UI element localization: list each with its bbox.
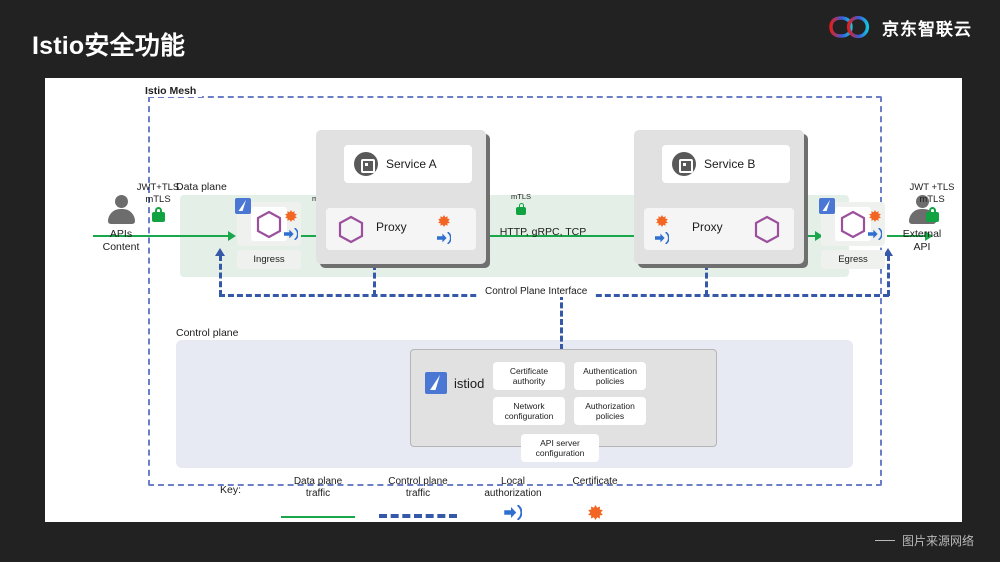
istiod-name: istiod <box>454 376 484 391</box>
page-title: Istio安全功能 <box>32 26 185 62</box>
cp-cert-line2: authority <box>513 376 546 386</box>
control-plane-interface-label: Control Plane Interface <box>479 286 593 297</box>
protocols-label: HTTP, gRPC, TCP <box>463 226 623 238</box>
diagram-canvas: Istio Mesh Data plane Control plane Cont… <box>45 78 962 522</box>
legend-item-data-plane-traffic: Data plane traffic <box>270 476 366 519</box>
gateway-ingress-label: Ingress <box>237 250 301 269</box>
gateway-egress[interactable]: Egress <box>821 202 885 269</box>
istiod-card-certificate-authority[interactable]: Certificateauthority <box>493 362 565 390</box>
cp-branch-ingress-arrow <box>215 248 225 256</box>
cp-auth-line1: Authentication <box>583 366 637 376</box>
gateway-egress-body <box>821 202 885 246</box>
legend-cert-swatch <box>556 505 634 519</box>
local-authorization-icon <box>868 228 882 240</box>
brand-name: 京东智联云 <box>882 15 972 40</box>
legend-cert-line1: Certificate <box>556 476 634 488</box>
security-label-left: JWT+TLS mTLS <box>123 182 193 227</box>
istiod-card-authentication-policies[interactable]: Authenticationpolicies <box>574 362 646 390</box>
service-b-proxy-box[interactable]: Proxy <box>644 208 794 250</box>
control-plane-label: Control plane <box>176 327 238 339</box>
cp-auth-line2: policies <box>596 376 624 386</box>
legend: Key: Data plane traffic Control plane tr… <box>220 476 640 522</box>
gateway-ingress[interactable]: Ingress <box>237 202 301 269</box>
proxy-hexagon-icon <box>256 210 282 239</box>
service-a-proxy-box[interactable]: Proxy <box>326 208 476 250</box>
istiod-card-authorization-policies[interactable]: Authorizationpolicies <box>574 397 646 425</box>
cp-branch-proxy-b <box>705 264 708 296</box>
lock-icon <box>926 207 939 222</box>
lock-icon <box>516 203 526 215</box>
service-b-proxy-label: Proxy <box>692 220 723 234</box>
istiod-card-network-configuration[interactable]: Networkconfiguration <box>493 397 565 425</box>
pod-service-b: Service B Proxy <box>634 130 804 264</box>
security-label-right-line1: JWT +TLS <box>897 182 967 194</box>
local-authorization-icon <box>437 232 451 244</box>
istio-sail-icon <box>425 372 447 394</box>
cp-cert-line1: Certificate <box>510 366 548 376</box>
cp-branch-istiod <box>560 294 563 350</box>
legend-data-line1: Data plane <box>270 476 366 488</box>
gateway-ingress-body <box>237 202 301 246</box>
source-note-text: 图片来源网络 <box>902 532 974 549</box>
istiod-card-api-server-configuration[interactable]: API serverconfiguration <box>521 434 599 462</box>
cp-branch-egress <box>887 255 890 296</box>
legend-control-line2: traffic <box>368 488 468 500</box>
legend-item-local-authorization: Local authorization <box>468 476 558 519</box>
legend-control-swatch <box>368 505 468 519</box>
istiod-brand: istiod <box>425 372 484 394</box>
proxy-hexagon-icon <box>338 215 364 244</box>
gateway-egress-label: Egress <box>821 250 885 269</box>
istio-sail-icon <box>819 198 835 214</box>
cp-net-line2: configuration <box>505 411 554 421</box>
legend-key-label: Key: <box>220 484 241 496</box>
cp-branch-proxy-a <box>373 264 376 296</box>
service-a-box[interactable]: Service A <box>344 145 472 183</box>
security-label-right-line2: mTLS <box>897 194 967 206</box>
certificate-starburst-icon <box>869 210 881 222</box>
legend-data-line2: traffic <box>270 488 366 500</box>
pod-service-a: Service A Proxy <box>316 130 486 264</box>
legend-data-swatch <box>270 505 366 519</box>
security-label-left-line2: mTLS <box>123 194 193 206</box>
proxy-hexagon-icon <box>754 215 780 244</box>
istiod-card: istiod Certificateauthority Authenticati… <box>410 349 717 447</box>
chip-icon <box>672 152 696 176</box>
local-authorization-icon <box>284 228 298 240</box>
cp-authz-line2: policies <box>596 411 624 421</box>
legend-item-control-plane-traffic: Control plane traffic <box>368 476 468 519</box>
cp-api-line2: configuration <box>536 448 585 458</box>
istio-sail-icon <box>235 198 251 214</box>
legend-localauth-line2: authorization <box>468 488 558 500</box>
service-b-box[interactable]: Service B <box>662 145 790 183</box>
local-authorization-icon <box>504 505 522 520</box>
legend-cert-line2 <box>556 488 634 500</box>
service-b-name: Service B <box>704 157 755 171</box>
cp-api-line1: API server <box>540 438 580 448</box>
certificate-starburst-icon <box>285 210 297 222</box>
mtls-label-b-text: mTLS <box>501 192 541 201</box>
legend-item-certificate: Certificate <box>556 476 634 519</box>
lock-icon <box>152 207 165 222</box>
traffic-arrow-ingress <box>228 231 236 241</box>
local-authorization-icon <box>655 232 669 244</box>
certificate-starburst-icon <box>588 505 603 520</box>
security-label-left-line1: JWT+TLS <box>123 182 193 194</box>
istio-mesh-label: Istio Mesh <box>139 85 202 97</box>
service-a-name: Service A <box>386 157 437 171</box>
legend-localauth-swatch <box>468 505 558 519</box>
security-label-right: JWT +TLS mTLS <box>897 182 967 227</box>
cp-net-line1: Network <box>513 401 544 411</box>
source-note: 图片来源网络 <box>875 532 974 549</box>
source-note-dash <box>875 540 895 541</box>
proxy-hexagon-icon <box>840 210 866 239</box>
certificate-starburst-icon <box>438 215 450 227</box>
legend-control-line1: Control plane <box>368 476 468 488</box>
cp-authz-line1: Authorization <box>585 401 635 411</box>
legend-localauth-line1: Local <box>468 476 558 488</box>
mtls-label-b: mTLS <box>501 192 541 220</box>
actor-external-label-line1: External <box>890 228 954 241</box>
cp-branch-ingress <box>219 255 222 296</box>
jd-cloud-infinity-icon <box>829 14 873 40</box>
chip-icon <box>354 152 378 176</box>
certificate-starburst-icon <box>656 215 668 227</box>
actor-apis-label-line1: APIs <box>89 228 153 241</box>
actor-apis-label-line2: Content <box>89 241 153 254</box>
brand-logo: 京东智联云 <box>829 14 972 40</box>
actor-external-label-line2: API <box>890 241 954 254</box>
service-a-proxy-label: Proxy <box>376 220 407 234</box>
